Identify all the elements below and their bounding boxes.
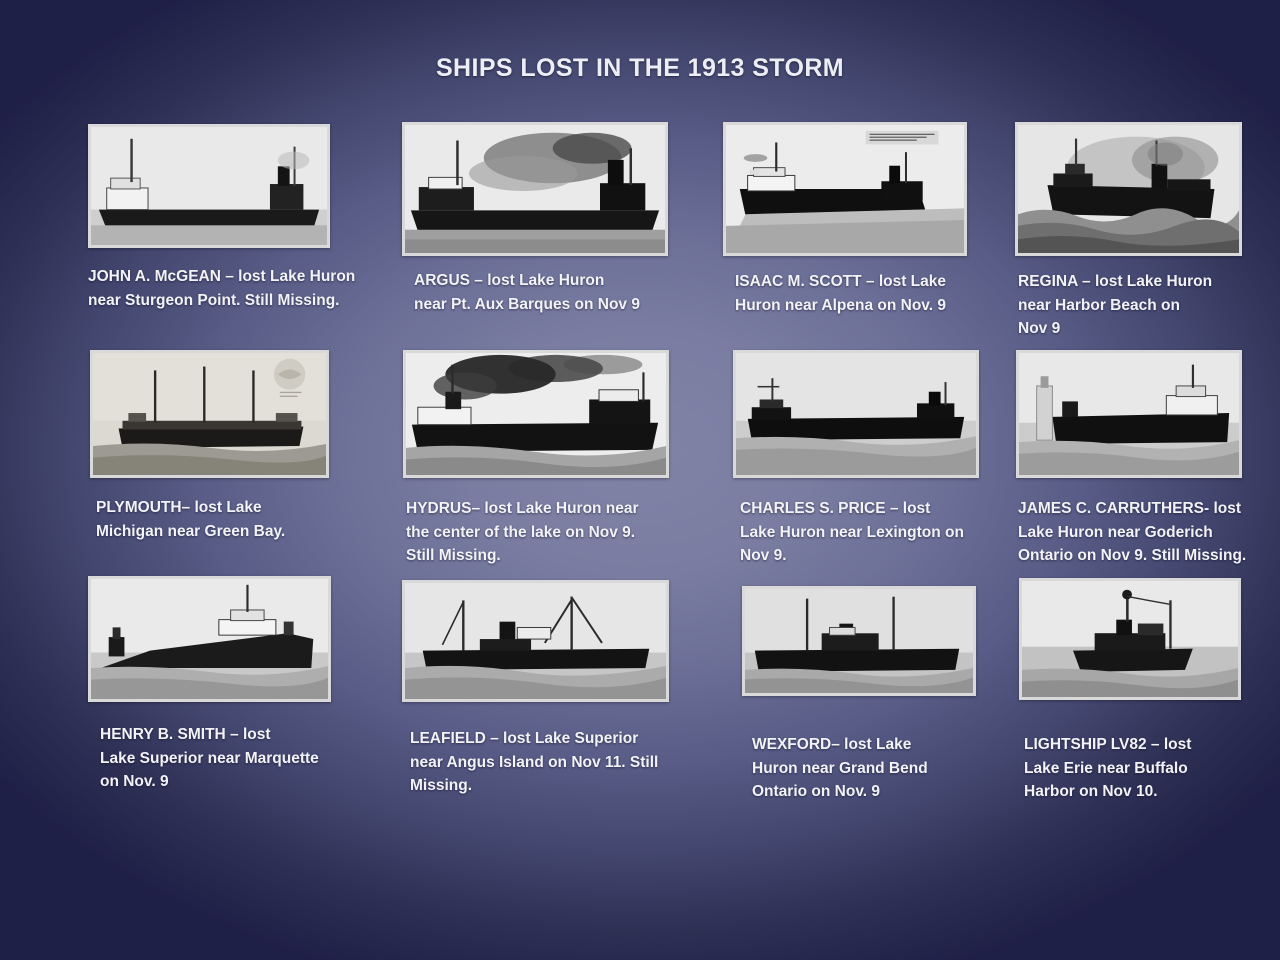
regina-photo[interactable]	[1015, 122, 1242, 256]
ship-caption: HYDRUS– lost Lake Huron near the center …	[406, 497, 696, 568]
page-title: SHIPS LOST IN THE 1913 STORM	[0, 54, 1280, 83]
ship-caption: LEAFIELD – lost Lake Superior near Angus…	[410, 727, 700, 798]
freighter-smoke-illustration	[405, 125, 665, 253]
leafield-photo[interactable]	[402, 580, 669, 702]
ship-caption: HENRY B. SMITH – lost Lake Superior near…	[100, 723, 380, 794]
lightship-lv82-photo[interactable]	[1019, 578, 1241, 700]
plymouth-photo[interactable]	[90, 350, 329, 478]
freighter-black-smoke-illustration	[406, 353, 666, 475]
john-a-mcgean-photo[interactable]	[88, 124, 330, 248]
ship-caption: JAMES C. CARRUTHERS- lost Lake Huron nea…	[1018, 497, 1274, 568]
ship-caption: WEXFORD– lost Lake Huron near Grand Bend…	[752, 733, 1012, 804]
ship-caption: REGINA – lost Lake Huron near Harbor Bea…	[1018, 270, 1268, 341]
freighter-bow-left-illustration	[91, 127, 327, 245]
masted-steamer-illustration	[405, 583, 666, 699]
james-c-carruthers-photo[interactable]	[1016, 350, 1242, 478]
ship-caption: JOHN A. McGEAN – lost Lake Huron near St…	[88, 265, 388, 312]
steamer-heavy-seas-illustration	[1018, 125, 1239, 253]
freighter-at-pier-illustration	[1019, 353, 1239, 475]
schooner-barge-illustration	[93, 353, 326, 475]
slide-canvas: SHIPS LOST IN THE 1913 STORM JOHN A. McG…	[0, 0, 1280, 960]
long-freighter-calm-illustration	[736, 353, 976, 475]
henry-b-smith-photo[interactable]	[88, 576, 331, 702]
ship-caption: CHARLES S. PRICE – lost Lake Huron near …	[740, 497, 1010, 568]
lightship-illustration	[1022, 581, 1238, 697]
package-freighter-illustration	[745, 589, 973, 693]
ship-caption: ISAAC M. SCOTT – lost Lake Huron near Al…	[735, 270, 1005, 317]
isaac-m-scott-photo[interactable]	[723, 122, 967, 256]
ship-caption: ARGUS – lost Lake Huron near Pt. Aux Bar…	[414, 269, 714, 316]
freighter-bow-right-illustration	[91, 579, 328, 699]
hydrus-photo[interactable]	[403, 350, 669, 478]
ship-caption: PLYMOUTH– lost Lake Michigan near Green …	[96, 496, 386, 543]
wexford-photo[interactable]	[742, 586, 976, 696]
ship-caption: LIGHTSHIP LV82 – lost Lake Erie near Buf…	[1024, 733, 1274, 804]
freighter-underway-illustration	[726, 125, 964, 253]
argus-photo[interactable]	[402, 122, 668, 256]
charles-s-price-photo[interactable]	[733, 350, 979, 478]
